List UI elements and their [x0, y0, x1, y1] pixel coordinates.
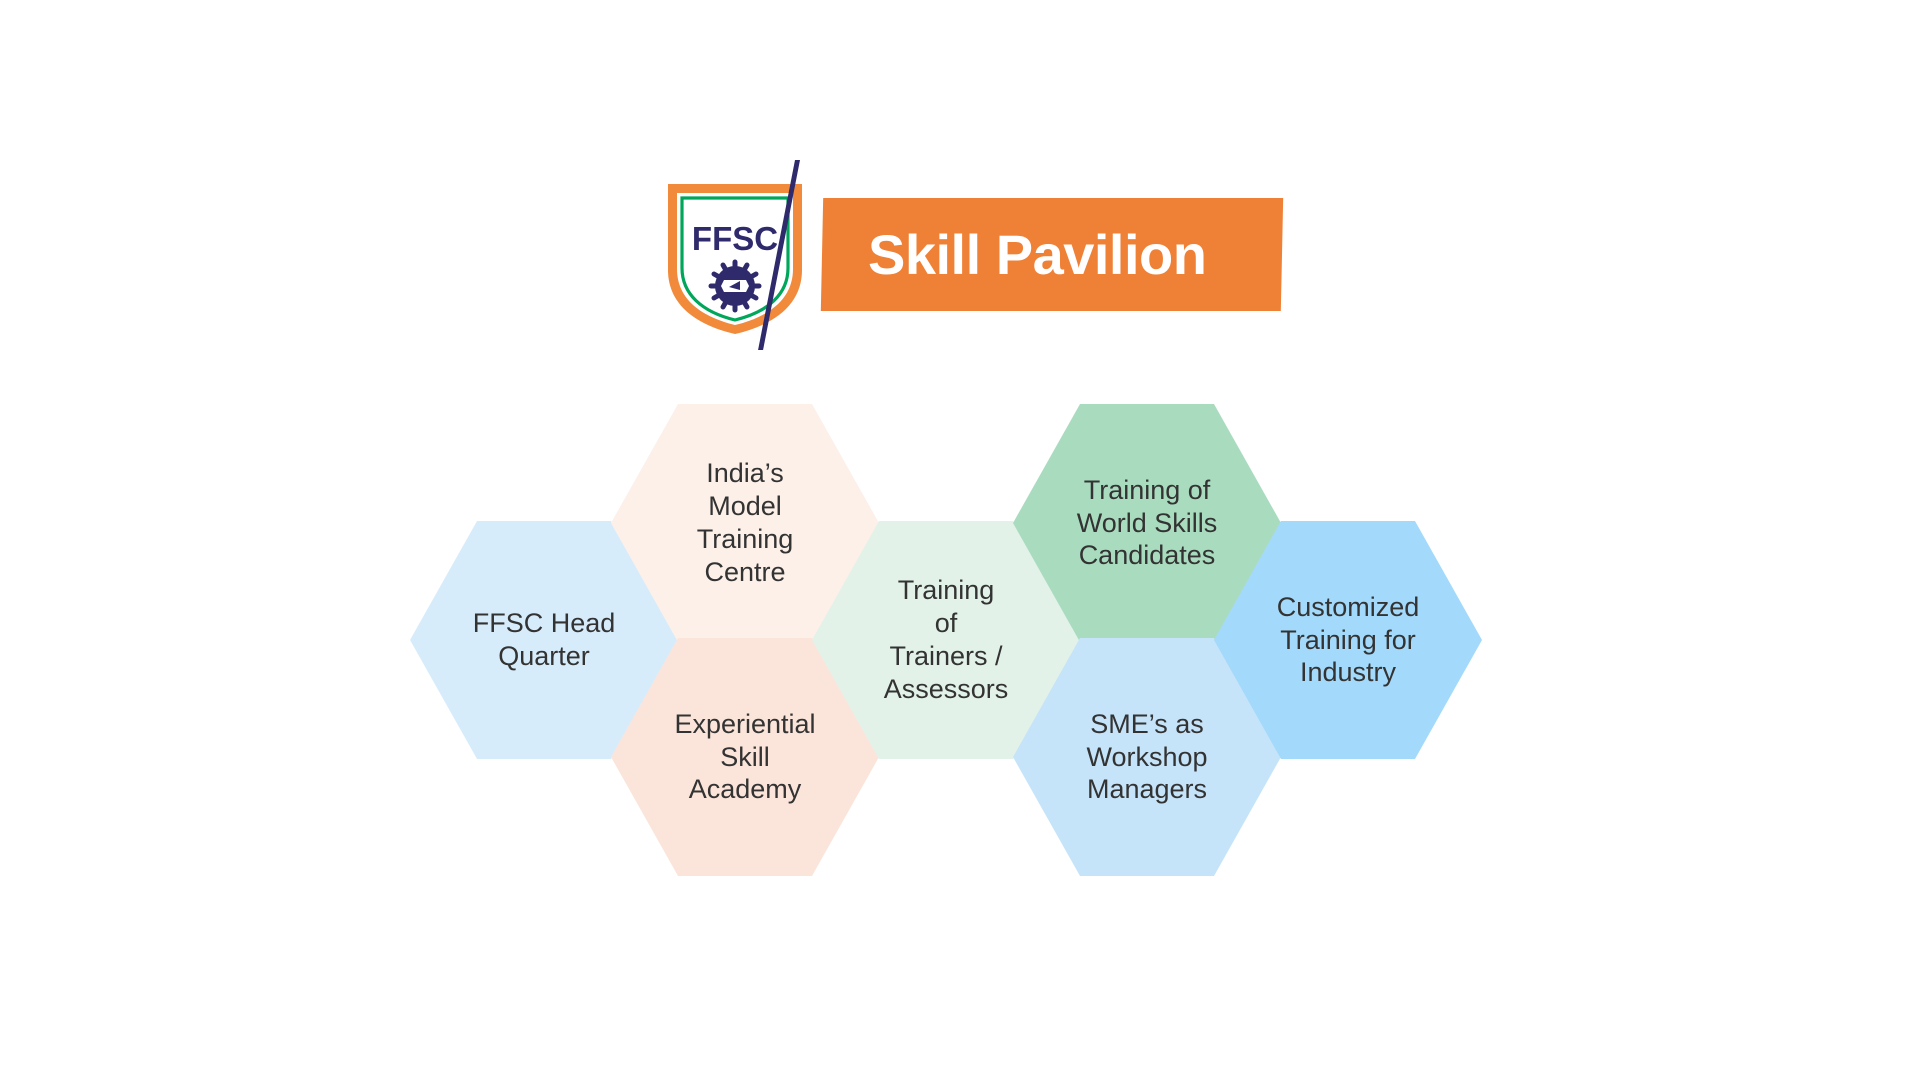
hex-label: Training of Trainers / Assessors	[868, 574, 1025, 706]
hex-label: SME’s as Workshop Managers	[1070, 708, 1223, 807]
hex-label: India’s Model Training Centre	[681, 457, 810, 589]
hex-label: Training of World Skills Candidates	[1061, 474, 1234, 573]
hex-label: Experiential Skill Academy	[658, 708, 831, 807]
hex-label: FFSC Head Quarter	[457, 607, 632, 673]
hex-label: Customized Training for Industry	[1261, 591, 1436, 690]
honeycomb-diagram: FFSC Head Quarter India’s Model Training…	[0, 0, 1920, 1080]
